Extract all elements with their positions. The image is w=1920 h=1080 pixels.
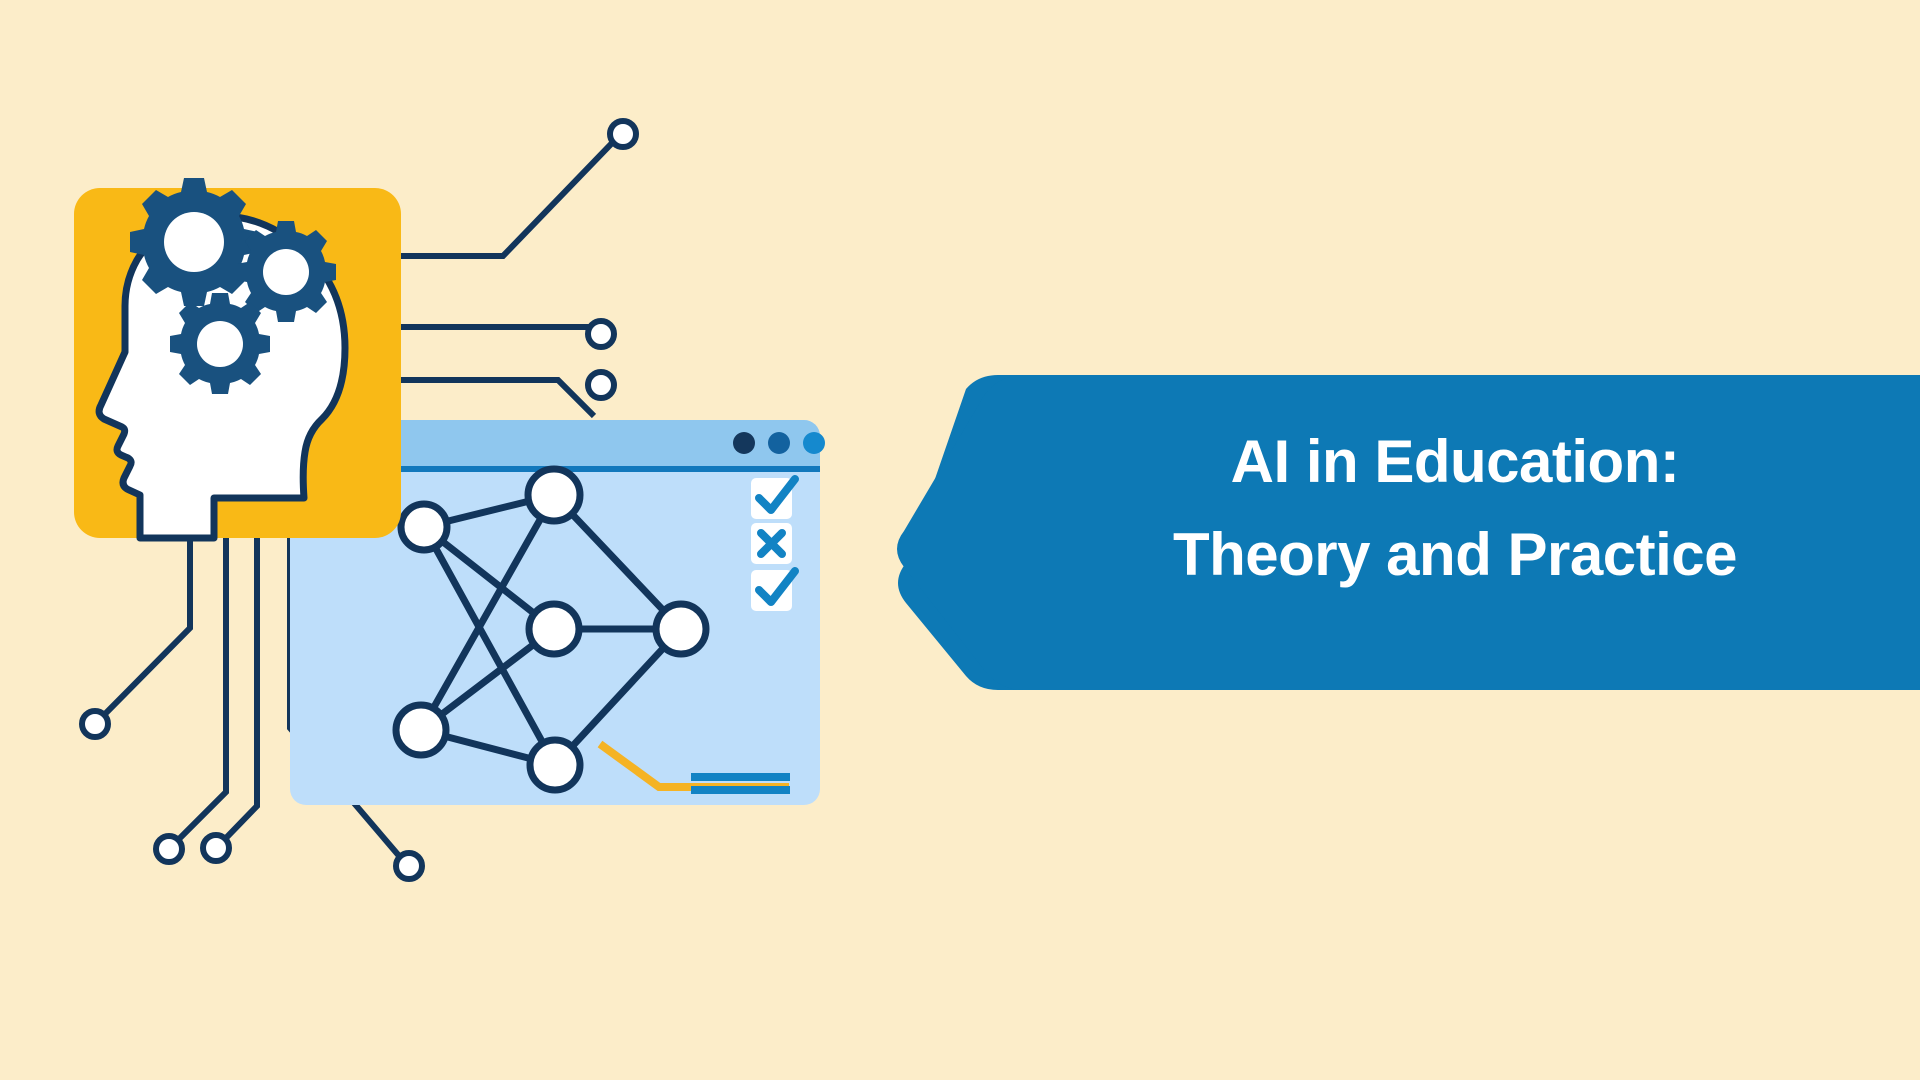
checkbox-checked-1[interactable] (751, 478, 795, 519)
circuit-endpoint-node (203, 835, 229, 861)
circuit-endpoint-node (588, 321, 614, 347)
nn-node (529, 604, 579, 654)
nn-node (401, 504, 447, 550)
checkbox-crossed[interactable] (751, 523, 792, 564)
nn-node (530, 740, 580, 790)
browser-window-controls[interactable] (733, 432, 825, 454)
small-gear (170, 293, 270, 394)
nn-node (396, 705, 446, 755)
nn-node (656, 604, 706, 654)
circuit-endpoint-node (396, 853, 422, 879)
circuit-endpoint-node (156, 836, 182, 862)
ai-brain-card[interactable] (74, 175, 401, 538)
browser-checklist[interactable] (751, 478, 795, 611)
circuit-endpoint-node (588, 372, 614, 398)
poster-artwork (0, 0, 1920, 1080)
circuit-endpoint-node (82, 711, 108, 737)
circuit-endpoint-node (610, 121, 636, 147)
poster-canvas: AI in Education: Theory and Practice (0, 0, 1920, 1080)
window-dot-3[interactable] (803, 432, 825, 454)
nn-node (528, 469, 580, 521)
title-banner (897, 375, 1920, 690)
window-dot-2[interactable] (768, 432, 790, 454)
window-dot-1[interactable] (733, 432, 755, 454)
checkbox-checked-2[interactable] (751, 570, 795, 611)
